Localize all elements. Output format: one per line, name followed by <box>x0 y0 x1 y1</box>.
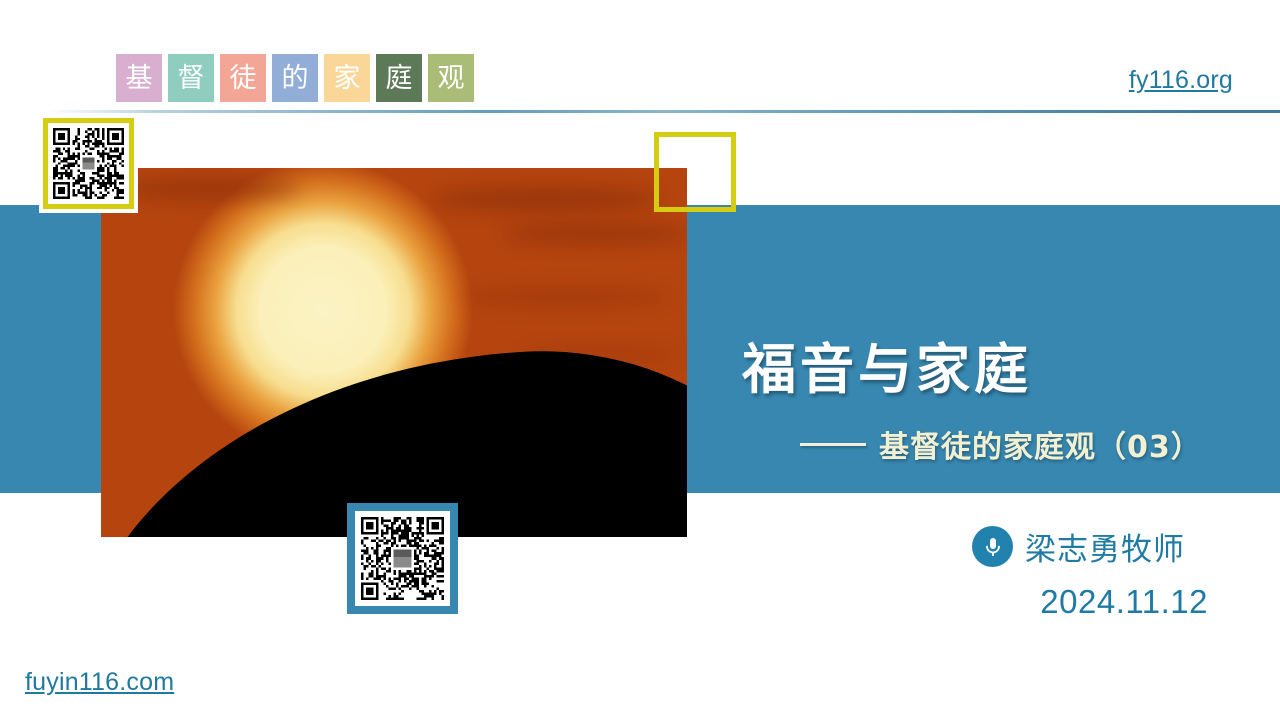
subtitle-row: 基督徒的家庭观（03） <box>800 422 1202 466</box>
header-tile-7: 观 <box>428 54 474 102</box>
yellow-outline-square-accent <box>654 132 736 212</box>
speaker-row: 梁志勇牧师 <box>972 524 1185 569</box>
header-site-link[interactable]: fy116.org <box>1129 66 1233 95</box>
qr-code-top-left[interactable] <box>43 118 134 209</box>
header-tile-1: 基 <box>116 54 162 102</box>
header-tile-3: 徒 <box>220 54 266 102</box>
cloud-shape <box>501 224 687 244</box>
qr-code-bottom[interactable] <box>347 503 458 614</box>
microphone-icon <box>972 526 1013 567</box>
speaker-name: 梁志勇牧师 <box>1025 524 1185 569</box>
header-tile-5: 家 <box>324 54 370 102</box>
cross-sunset-photo <box>101 168 687 537</box>
footer-site-link[interactable]: fuyin116.com <box>25 668 174 697</box>
header-tile-6: 庭 <box>376 54 422 102</box>
header-tile-4: 的 <box>272 54 318 102</box>
header-title-tiles: 基督徒的家庭观 <box>116 54 474 102</box>
header-tile-2: 督 <box>168 54 214 102</box>
page-title: 福音与家庭 <box>742 325 1032 404</box>
cloud-shape <box>431 186 661 212</box>
page-subtitle: 基督徒的家庭观（03） <box>879 422 1202 466</box>
presentation-date: 2024.11.12 <box>1040 583 1208 621</box>
presentation-slide: 基督徒的家庭观 fy116.org <box>0 0 1280 720</box>
cloud-shape <box>121 178 301 200</box>
subtitle-dash <box>800 443 866 446</box>
qr-code-bottom-image <box>361 517 444 600</box>
cloud-shape <box>461 288 671 306</box>
header-divider-rule <box>48 110 1280 113</box>
qr-code-top-left-image <box>53 128 124 199</box>
